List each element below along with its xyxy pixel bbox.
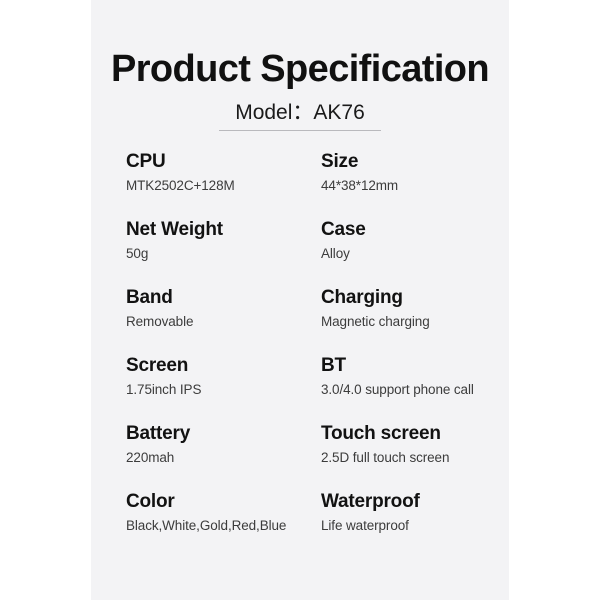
spec-item-charging: Charging Magnetic charging	[321, 286, 526, 331]
spec-row: Band Removable Charging Magnetic chargin…	[126, 286, 486, 354]
spec-label: BT	[321, 354, 526, 378]
spec-value: MTK2502C+128M	[126, 176, 321, 195]
spec-item-band: Band Removable	[126, 286, 321, 331]
spec-item-battery: Battery 220mah	[126, 422, 321, 467]
spec-value: 44*38*12mm	[321, 176, 526, 195]
spec-value: 2.5D full touch screen	[321, 448, 526, 467]
spec-label: Net Weight	[126, 218, 321, 242]
spec-value: Life waterproof	[321, 516, 526, 535]
spec-item-net-weight: Net Weight 50g	[126, 218, 321, 263]
spec-value: 50g	[126, 244, 321, 263]
spec-label: Waterproof	[321, 490, 526, 514]
specification-card: Product Specification Model：AK76 CPU MTK…	[91, 0, 509, 600]
spec-label: Touch screen	[321, 422, 526, 446]
spec-item-waterproof: Waterproof Life waterproof	[321, 490, 526, 535]
model-block: Model：AK76	[91, 99, 509, 131]
spec-value: Alloy	[321, 244, 526, 263]
specification-grid: CPU MTK2502C+128M Size 44*38*12mm Net We…	[126, 150, 486, 558]
spec-label: Band	[126, 286, 321, 310]
spec-value: Removable	[126, 312, 321, 331]
spec-item-cpu: CPU MTK2502C+128M	[126, 150, 321, 195]
spec-item-color: Color Black,White,Gold,Red,Blue	[126, 490, 321, 535]
spec-value: 220mah	[126, 448, 321, 467]
page-title: Product Specification	[91, 46, 509, 92]
spec-label: Color	[126, 490, 321, 514]
title-block: Product Specification	[91, 46, 509, 92]
model-number: Model：AK76	[219, 99, 381, 131]
spec-value: Magnetic charging	[321, 312, 526, 331]
spec-item-size: Size 44*38*12mm	[321, 150, 526, 195]
spec-label: CPU	[126, 150, 321, 174]
spec-value: 3.0/4.0 support phone call	[321, 380, 526, 399]
spec-label: Charging	[321, 286, 526, 310]
spec-label: Size	[321, 150, 526, 174]
spec-item-touch-screen: Touch screen 2.5D full touch screen	[321, 422, 526, 467]
spec-item-bt: BT 3.0/4.0 support phone call	[321, 354, 526, 399]
spec-item-screen: Screen 1.75inch IPS	[126, 354, 321, 399]
spec-value: 1.75inch IPS	[126, 380, 321, 399]
spec-item-case: Case Alloy	[321, 218, 526, 263]
spec-row: CPU MTK2502C+128M Size 44*38*12mm	[126, 150, 486, 218]
spec-label: Battery	[126, 422, 321, 446]
spec-row: Color Black,White,Gold,Red,Blue Waterpro…	[126, 490, 486, 558]
spec-label: Case	[321, 218, 526, 242]
spec-row: Battery 220mah Touch screen 2.5D full to…	[126, 422, 486, 490]
spec-row: Screen 1.75inch IPS BT 3.0/4.0 support p…	[126, 354, 486, 422]
spec-label: Screen	[126, 354, 321, 378]
spec-row: Net Weight 50g Case Alloy	[126, 218, 486, 286]
spec-value: Black,White,Gold,Red,Blue	[126, 516, 321, 535]
